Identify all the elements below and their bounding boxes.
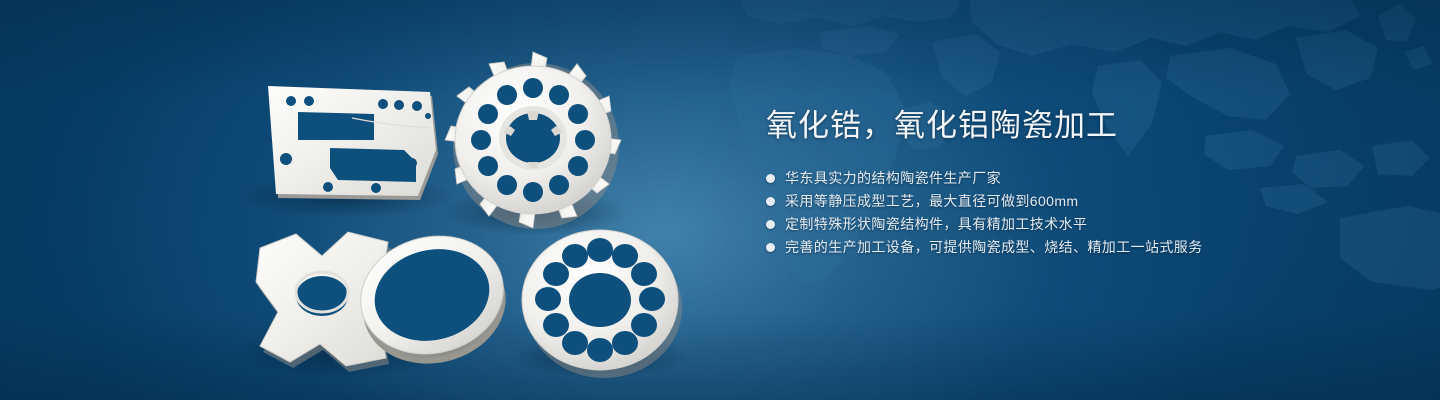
feature-text: 采用等静压成型工艺，最大直径可做到600mm	[785, 190, 1078, 212]
bullet-dot-icon	[766, 197, 775, 206]
page-title: 氧化锆，氧化铝陶瓷加工	[766, 104, 1386, 148]
feature-text: 华东具实力的结构陶瓷件生产厂家	[785, 167, 1001, 189]
feature-text: 完善的生产加工设备，可提供陶瓷成型、烧结、精加工一站式服务	[785, 236, 1203, 258]
list-item: 完善的生产加工设备，可提供陶瓷成型、烧结、精加工一站式服务	[766, 236, 1386, 258]
bullet-dot-icon	[766, 220, 775, 229]
bullet-dot-icon	[766, 243, 775, 252]
ceramic-products-image	[0, 0, 720, 400]
list-item: 采用等静压成型工艺，最大直径可做到600mm	[766, 190, 1386, 212]
banner-copy: 氧化锆，氧化铝陶瓷加工 华东具实力的结构陶瓷件生产厂家 采用等静压成型工艺，最大…	[766, 104, 1386, 274]
bullet-dot-icon	[766, 174, 775, 183]
promo-banner: 氧化锆，氧化铝陶瓷加工 华东具实力的结构陶瓷件生产厂家 采用等静压成型工艺，最大…	[0, 0, 1440, 400]
feature-text: 定制特殊形状陶瓷结构件，具有精加工技术水平	[785, 213, 1087, 235]
list-item: 华东具实力的结构陶瓷件生产厂家	[766, 167, 1386, 189]
feature-list: 华东具实力的结构陶瓷件生产厂家 采用等静压成型工艺，最大直径可做到600mm 定…	[766, 167, 1386, 258]
list-item: 定制特殊形状陶瓷结构件，具有精加工技术水平	[766, 213, 1386, 235]
